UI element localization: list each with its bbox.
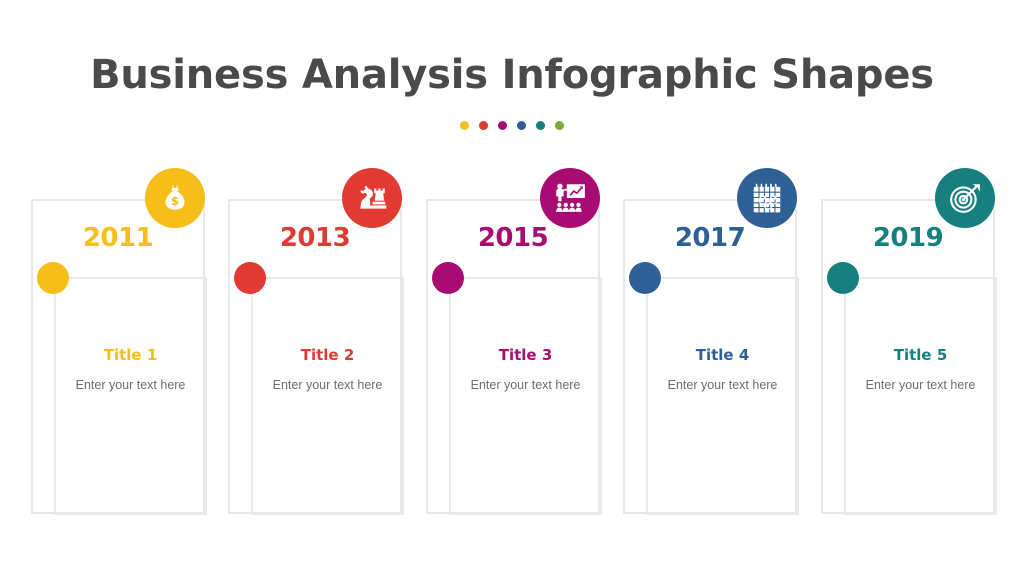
chess-pieces-icon: [355, 181, 389, 215]
timeline-node-dot[interactable]: [827, 262, 859, 294]
presentation-training-icon: [553, 181, 587, 215]
timeline-card: $ 2011Title 1Enter your text here: [31, 168, 229, 518]
timeline-node-dot[interactable]: [432, 262, 464, 294]
icon-badge[interactable]: [342, 168, 402, 228]
money-bag-icon: $: [158, 181, 192, 215]
card-body-text[interactable]: Enter your text here: [241, 378, 414, 393]
card-body-text[interactable]: Enter your text here: [636, 378, 809, 393]
calendar-check-icon: [750, 181, 784, 215]
card-inner-frame: [646, 277, 799, 515]
timeline-card: 2019Title 5Enter your text here: [821, 168, 1019, 518]
card-year-label: 2017: [623, 225, 797, 251]
card-title: Title 2: [251, 348, 404, 363]
card-year-label: 2013: [228, 225, 402, 251]
card-inner-frame: [251, 277, 404, 515]
icon-badge[interactable]: [540, 168, 600, 228]
timeline-card: 2013Title 2Enter your text here: [228, 168, 426, 518]
card-body-text[interactable]: Enter your text here: [44, 378, 217, 393]
card-title: Title 4: [646, 348, 799, 363]
card-title: Title 5: [844, 348, 997, 363]
infographic-slide: Business Analysis Infographic Shapes $ 2…: [0, 0, 1024, 576]
icon-badge[interactable]: $: [145, 168, 205, 228]
card-inner-frame: [54, 277, 207, 515]
card-body-text[interactable]: Enter your text here: [439, 378, 612, 393]
card-year-label: 2019: [821, 225, 995, 251]
timeline-node-dot[interactable]: [629, 262, 661, 294]
card-title: Title 1: [54, 348, 207, 363]
icon-badge[interactable]: [935, 168, 995, 228]
icon-badge[interactable]: [737, 168, 797, 228]
target-arrow-icon: [948, 181, 982, 215]
card-year-label: 2015: [426, 225, 600, 251]
timeline-node-dot[interactable]: [234, 262, 266, 294]
card-year-label: 2011: [31, 225, 205, 251]
card-inner-frame: [844, 277, 997, 515]
card-body-text[interactable]: Enter your text here: [834, 378, 1007, 393]
timeline-node-dot[interactable]: [37, 262, 69, 294]
timeline-cards: $ 2011Title 1Enter your text here 2013Ti…: [0, 0, 1024, 576]
card-inner-frame: [449, 277, 602, 515]
card-title: Title 3: [449, 348, 602, 363]
svg-text:$: $: [171, 194, 179, 208]
timeline-card: 2015Title 3Enter your text here: [426, 168, 624, 518]
timeline-card: 2017Title 4Enter your text here: [623, 168, 821, 518]
